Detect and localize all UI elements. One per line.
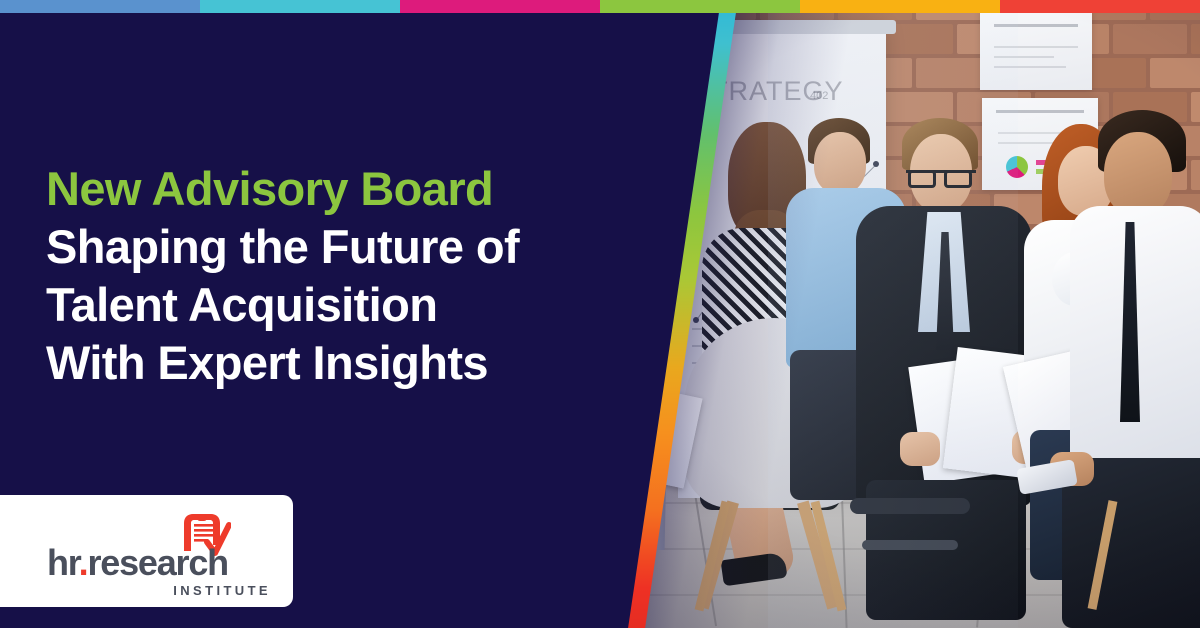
logo: hr.research INSTITUTE [47,511,273,591]
wall-poster-top [980,10,1092,90]
logo-wordmark-suffix: research [87,542,228,583]
color-bar-segment-red [1000,0,1200,13]
logo-wordmark: hr.research [47,543,228,583]
logo-subtitle: INSTITUTE [173,583,271,598]
chair-stool [850,498,970,514]
headline-line-2: Shaping the Future of [46,218,666,276]
logo-wordmark-prefix: hr [47,542,79,583]
hand [900,432,940,466]
headline-block: New Advisory Board Shaping the Future of… [46,160,666,392]
color-bar-segment-magenta [400,0,600,13]
color-bar-segment-orange [800,0,1000,13]
headline-line-1: New Advisory Board [46,160,666,218]
headline-line-3: Talent Acquisition [46,276,666,334]
chart-data-point [873,161,879,167]
color-bar-segment-teal [200,0,400,13]
brand-color-bar [0,0,1200,13]
color-bar-segment-blue [0,0,200,13]
chair-wheel-base [862,540,958,550]
chart-data-point [693,317,699,323]
headline-line-4: With Expert Insights [46,334,666,392]
promo-banner: STRATEGY 402 [0,0,1200,628]
logo-card[interactable]: hr.research INSTITUTE [0,495,293,607]
flipchart-subtitle: 402 [810,90,828,102]
color-bar-segment-green [600,0,800,13]
